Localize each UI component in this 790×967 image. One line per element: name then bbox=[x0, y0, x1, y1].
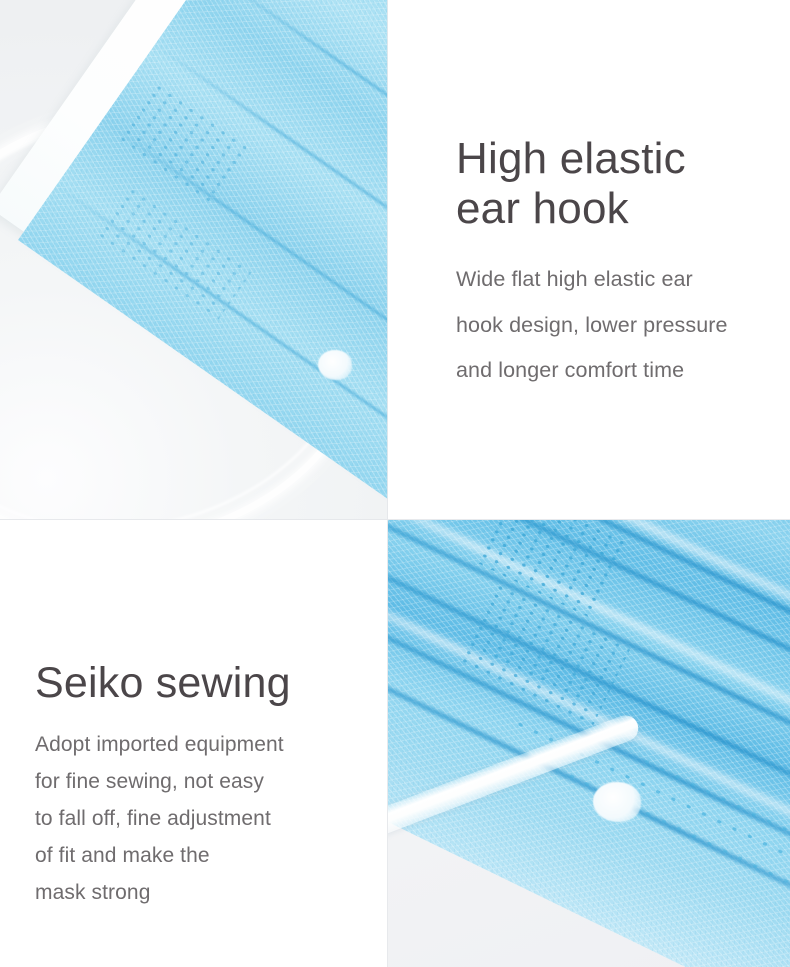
headline-ear-hook: High elastic ear hook bbox=[456, 134, 786, 233]
ear-loop-weld-patch bbox=[318, 350, 352, 380]
body-copy-seiko-sewing: Adopt imported equipment for fine sewing… bbox=[35, 727, 375, 912]
text-block: High elastic ear hook Wide flat high ela… bbox=[456, 134, 786, 393]
panel-divider-horizontal bbox=[0, 519, 790, 520]
panel-divider-vertical bbox=[387, 0, 388, 967]
body-copy-ear-hook: Wide flat high elastic ear hook design, … bbox=[456, 257, 786, 392]
feature-text-ear-hook: High elastic ear hook Wide flat high ela… bbox=[388, 0, 790, 520]
mask-corner-photo bbox=[0, 0, 388, 520]
product-feature-collage: High elastic ear hook Wide flat high ela… bbox=[0, 0, 790, 967]
text-block: Seiko sewing Adopt imported equipment fo… bbox=[35, 660, 375, 912]
headline-seiko-sewing: Seiko sewing bbox=[35, 660, 375, 707]
mask-fabric-macro-photo bbox=[388, 520, 790, 967]
feature-text-seiko-sewing: Seiko sewing Adopt imported equipment fo… bbox=[0, 520, 388, 967]
ear-loop-weld-patch bbox=[593, 782, 641, 822]
